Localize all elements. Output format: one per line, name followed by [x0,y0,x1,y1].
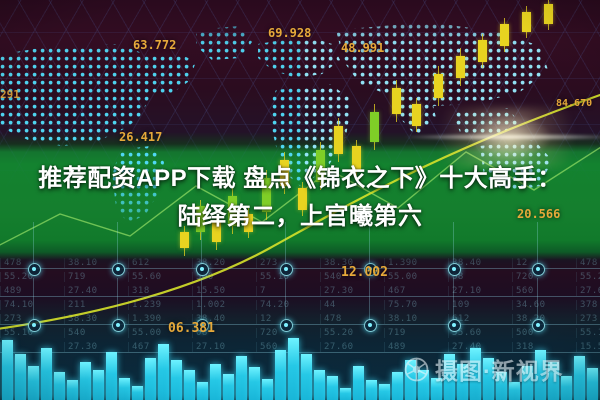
price-label: 291 [0,88,20,101]
banner-image: 47838.1061238.2027338.301.39038.40124783… [0,0,600,400]
headline-line-1: 推荐配资APP下载 盘点《锦衣之下》十大高手： [0,160,600,198]
page-title: 推荐配资APP下载 盘点《锦衣之下》十大高手： 陆绎第二，上官曦第六 [0,160,600,236]
price-label: 69.928 [268,26,311,40]
headline-line-2: 陆绎第二，上官曦第六 [0,198,600,236]
price-label: 84.670 [556,98,592,109]
price-label: 06.381 [168,321,215,336]
price-label: 63.772 [133,38,176,52]
watermark-text: 摄图·新视界 [435,352,564,386]
aperture-icon [404,357,429,382]
watermark: 摄图·新视界 [404,352,564,386]
price-label: 48.991 [341,41,384,55]
price-label: 26.417 [119,130,162,144]
price-label: 12.002 [341,265,388,280]
